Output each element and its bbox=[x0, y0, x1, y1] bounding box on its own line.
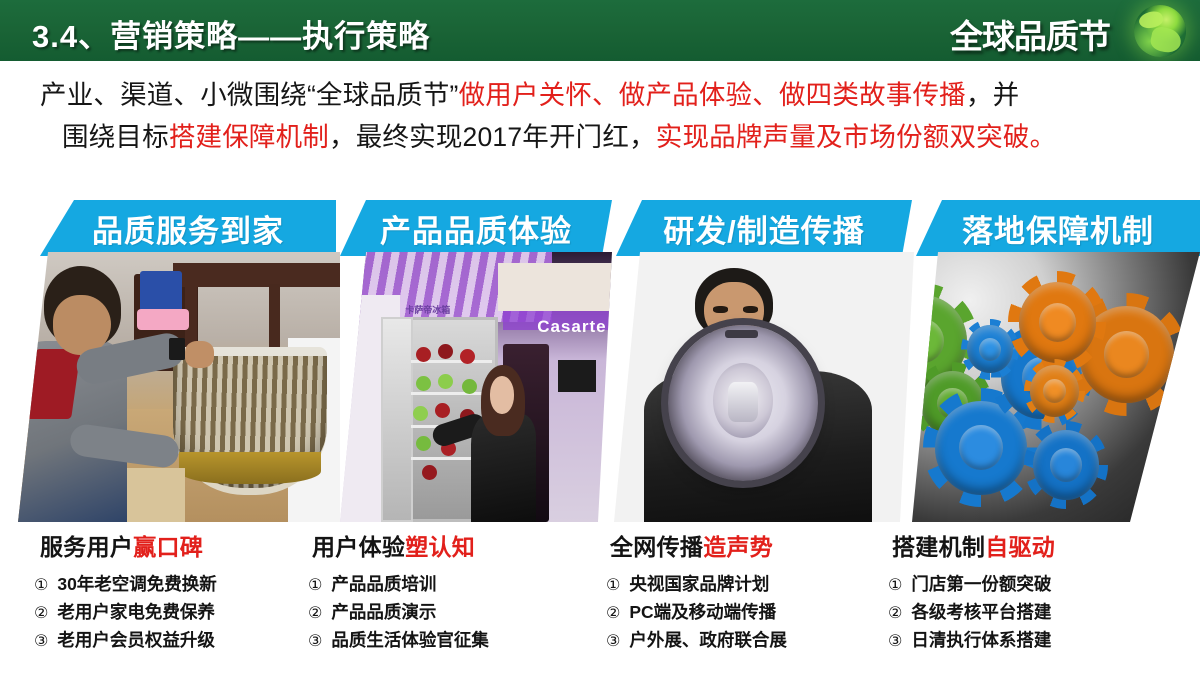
list-number: ① bbox=[308, 573, 322, 599]
column-list: ①30年老空调免费换新 ②老用户家电免费保养 ③老用户会员权益升级 bbox=[34, 571, 300, 655]
banner-label: 落地保障机制 bbox=[962, 206, 1154, 251]
banner-product-experience[interactable]: 产品品质体验 bbox=[340, 200, 612, 256]
column-title: 搭建机制自驱动 bbox=[892, 528, 1188, 562]
paragraph-line1-lead: 产业、渠道、小微围绕“全球品质节” bbox=[40, 80, 459, 110]
wall-tv-shape bbox=[558, 360, 596, 392]
gear-blue-bottom bbox=[1033, 430, 1099, 500]
banner-label: 研发/制造传播 bbox=[663, 206, 865, 251]
column-title-red: 塑认知 bbox=[405, 534, 475, 560]
banner-label: 品质服务到家 bbox=[92, 206, 284, 251]
list-text: 日清执行体系搭建 bbox=[911, 627, 1051, 653]
paragraph-line1-tail: ，并 bbox=[966, 80, 1019, 110]
photo-row: 卡萨帝冰箱 Casarte bbox=[0, 252, 1200, 522]
paragraph-line2-highlight-1: 搭建保障机制 bbox=[169, 122, 329, 152]
photo-megaphone-man bbox=[614, 252, 914, 522]
list-number: ② bbox=[888, 601, 902, 627]
list-item: ②PC端及移动端传播 bbox=[606, 599, 888, 627]
man-eye-left bbox=[713, 306, 728, 313]
ceiling-panel-shape bbox=[498, 263, 612, 312]
fridge-door-shape bbox=[381, 317, 414, 522]
apple-shape bbox=[422, 465, 437, 480]
apple-shape bbox=[438, 344, 453, 359]
globe-icon bbox=[1134, 5, 1186, 57]
list-text: 老用户家电免费保养 bbox=[57, 599, 215, 625]
apple-shape bbox=[416, 436, 431, 451]
list-text: 央视国家品牌计划 bbox=[629, 571, 769, 597]
column-user-experience: 用户体验塑认知 ①产品品质培训 ②产品品质演示 ③品质生活体验官征集 bbox=[308, 528, 580, 655]
intro-paragraph: 产业、渠道、小微围绕“全球品质节”做用户关怀、做产品体验、做四类故事传播，并 围… bbox=[40, 74, 1165, 158]
apple-shape bbox=[460, 349, 475, 364]
apple-shape bbox=[416, 347, 431, 362]
list-text: 30年老空调免费换新 bbox=[57, 571, 216, 597]
list-number: ② bbox=[34, 601, 48, 627]
list-text: 老用户会员权益升级 bbox=[57, 627, 215, 653]
gear-orange-small bbox=[1030, 365, 1079, 416]
casarte-brand-text: Casarte bbox=[537, 317, 606, 337]
list-number: ③ bbox=[606, 629, 620, 655]
list-number: ③ bbox=[308, 629, 322, 655]
paragraph-line2-mid: ，最终实现2017年开门红， bbox=[329, 122, 656, 152]
column-title: 服务用户赢口碑 bbox=[40, 528, 300, 562]
list-item: ③户外展、政府联合展 bbox=[606, 627, 888, 655]
column-list: ①产品品质培训 ②产品品质演示 ③品质生活体验官征集 bbox=[308, 571, 580, 655]
column-title-red: 自驱动 bbox=[985, 534, 1055, 560]
column-title-red: 造声势 bbox=[703, 534, 773, 560]
list-text: PC端及移动端传播 bbox=[629, 599, 776, 625]
category-banner-strip: 品质服务到家 产品品质体验 研发/制造传播 落地保障机制 bbox=[0, 200, 1200, 256]
column-title-black: 全网传播 bbox=[610, 534, 703, 560]
photo-casarte-showroom: 卡萨帝冰箱 Casarte bbox=[340, 252, 612, 522]
apple-shape bbox=[438, 374, 453, 389]
paragraph-line1-highlight: 做用户关怀、做产品体验、做四类故事传播 bbox=[459, 80, 966, 110]
column-title-black: 用户体验 bbox=[312, 534, 405, 560]
banner-label: 产品品质体验 bbox=[380, 206, 572, 251]
column-network-spread: 全网传播造声势 ①央视国家品牌计划 ②PC端及移动端传播 ③户外展、政府联合展 bbox=[606, 528, 888, 655]
list-item: ②产品品质演示 bbox=[308, 599, 580, 627]
gear-orange-medium bbox=[1019, 282, 1097, 363]
list-text: 产品品质演示 bbox=[331, 599, 436, 625]
column-list: ①门店第一份额突破 ②各级考核平台搭建 ③日清执行体系搭建 bbox=[888, 571, 1188, 655]
column-title-black: 服务用户 bbox=[40, 534, 133, 560]
list-text: 品质生活体验官征集 bbox=[331, 627, 489, 653]
slide-header: 3.4、营销策略——执行策略 全球品质节 bbox=[0, 0, 1200, 61]
column-list: ①央视国家品牌计划 ②PC端及移动端传播 ③户外展、政府联合展 bbox=[606, 571, 888, 655]
photo-service-technician bbox=[18, 252, 340, 522]
brand-logo-text: 全球品质节 bbox=[950, 10, 1110, 58]
list-item: ③品质生活体验官征集 bbox=[308, 627, 580, 655]
list-number: ③ bbox=[34, 629, 48, 655]
wristwatch-shape bbox=[169, 338, 185, 360]
column-title-black: 搭建机制 bbox=[892, 534, 985, 560]
paragraph-line2-lead: 围绕目标 bbox=[62, 122, 169, 152]
man-eye-right bbox=[743, 306, 758, 313]
list-item: ③老用户会员权益升级 bbox=[34, 627, 300, 655]
list-text: 各级考核平台搭建 bbox=[911, 599, 1051, 625]
list-number: ② bbox=[606, 601, 620, 627]
column-title: 用户体验塑认知 bbox=[312, 528, 580, 562]
list-text: 产品品质培训 bbox=[331, 571, 436, 597]
technician-hand bbox=[185, 341, 214, 368]
photo-gears bbox=[912, 252, 1200, 522]
list-text: 户外展、政府联合展 bbox=[629, 627, 787, 653]
list-item: ①央视国家品牌计划 bbox=[606, 571, 888, 599]
list-text: 门店第一份额突破 bbox=[911, 571, 1051, 597]
drum-dirt-shape bbox=[179, 452, 321, 484]
list-item: ①门店第一份额突破 bbox=[888, 571, 1188, 599]
bottom-columns: 服务用户赢口碑 ①30年老空调免费换新 ②老用户家电免费保养 ③老用户会员权益升… bbox=[0, 528, 1200, 668]
table-shape bbox=[173, 263, 340, 287]
column-service-users: 服务用户赢口碑 ①30年老空调免费换新 ②老用户家电免费保养 ③老用户会员权益升… bbox=[34, 528, 300, 655]
showroom-sign-text: 卡萨帝冰箱 bbox=[405, 303, 450, 316]
banner-guarantee-mechanism[interactable]: 落地保障机制 bbox=[916, 200, 1200, 256]
list-item: ①30年老空调免费换新 bbox=[34, 571, 300, 599]
list-number: ③ bbox=[888, 629, 902, 655]
brand-logo: 全球品质节 bbox=[942, 2, 1192, 60]
paragraph-line2-highlight-2: 实现品牌声量及市场份额双突破。 bbox=[656, 122, 1057, 152]
woman-face bbox=[490, 376, 514, 414]
gear-blue-small bbox=[967, 325, 1013, 374]
column-title-red: 赢口碑 bbox=[133, 534, 203, 560]
list-item: ③日清执行体系搭建 bbox=[888, 627, 1188, 655]
list-number: ① bbox=[606, 573, 620, 599]
megaphone-handle bbox=[725, 330, 758, 338]
column-build-mechanism: 搭建机制自驱动 ①门店第一份额突破 ②各级考核平台搭建 ③日清执行体系搭建 bbox=[888, 528, 1188, 655]
column-title: 全网传播造声势 bbox=[610, 528, 888, 562]
list-item: ②老用户家电免费保养 bbox=[34, 599, 300, 627]
pink-cloth-shape bbox=[137, 309, 189, 331]
megaphone-core bbox=[728, 382, 758, 423]
list-number: ① bbox=[888, 573, 902, 599]
list-number: ② bbox=[308, 601, 322, 627]
list-item: ②各级考核平台搭建 bbox=[888, 599, 1188, 627]
fridge-shelf bbox=[411, 392, 493, 395]
banner-rd-manufacturing[interactable]: 研发/制造传播 bbox=[616, 200, 912, 256]
banner-quality-service[interactable]: 品质服务到家 bbox=[40, 200, 336, 256]
page-title: 3.4、营销策略——执行策略 bbox=[32, 11, 430, 56]
list-item: ①产品品质培训 bbox=[308, 571, 580, 599]
list-number: ① bbox=[34, 573, 48, 599]
